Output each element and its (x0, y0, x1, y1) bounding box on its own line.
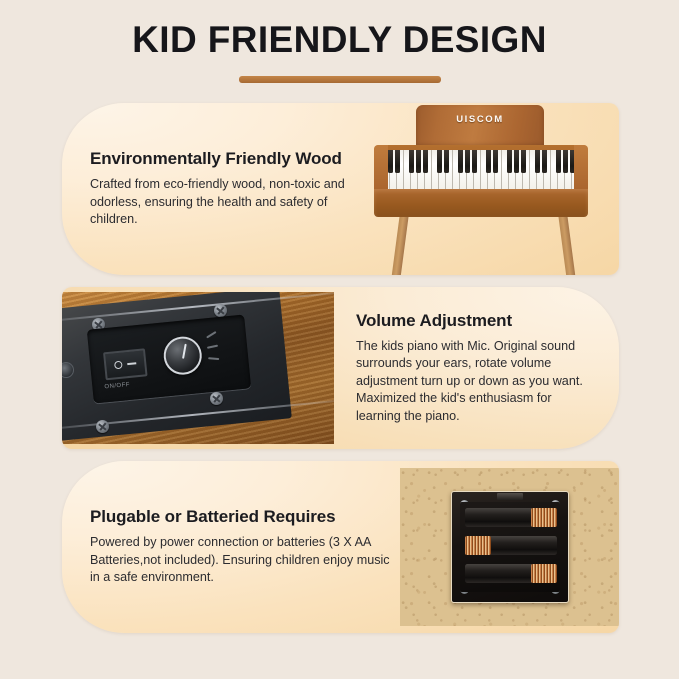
battery-positive-terminal (465, 536, 491, 555)
black-key (472, 150, 477, 173)
piano-music-stand: UISCOM (416, 105, 544, 147)
tray-clip (497, 493, 523, 500)
piano-leg-right (558, 212, 576, 275)
aa-battery (465, 536, 557, 555)
screw-icon (214, 304, 227, 317)
feature-heading: Environmentally Friendly Wood (90, 149, 356, 169)
battery-compartment-image (400, 468, 619, 626)
black-key (458, 150, 463, 173)
black-key (465, 150, 470, 173)
black-key (556, 150, 561, 173)
black-key (486, 150, 491, 173)
switch-off-symbol-icon (114, 361, 123, 370)
header: KID FRIENDLY DESIGN (0, 0, 679, 83)
battery-positive-terminal (531, 508, 557, 527)
screw-icon (96, 420, 109, 433)
battery-positive-terminal (531, 564, 557, 583)
battery-bay (460, 502, 560, 592)
control-panel-image: ON/OFF (62, 292, 334, 444)
feature-body: Powered by power connection or batteries… (90, 534, 394, 586)
piano-apron (374, 189, 588, 217)
black-key (395, 150, 400, 173)
feature-text-pane: Plugable or Batteried Requires Powered b… (62, 461, 400, 633)
feature-card-list: Environmentally Friendly Wood Crafted fr… (62, 103, 619, 633)
black-key (493, 150, 498, 173)
feature-text-pane: Volume Adjustment The kids piano with Mi… (334, 287, 619, 449)
aa-battery (465, 508, 557, 527)
piano-cheek-right (574, 145, 588, 192)
feature-text-pane: Environmentally Friendly Wood Crafted fr… (62, 103, 362, 275)
black-key (437, 150, 442, 173)
power-switch-label: ON/OFF (104, 382, 130, 390)
brand-logo-text: UISCOM (416, 114, 544, 125)
black-key (444, 150, 449, 173)
black-key (535, 150, 540, 173)
black-key (409, 150, 414, 173)
volume-knob[interactable] (162, 335, 204, 377)
feature-body: The kids piano with Mic. Original sound … (356, 338, 599, 425)
feature-heading: Plugable or Batteried Requires (90, 507, 394, 527)
black-key (563, 150, 568, 173)
black-key (514, 150, 519, 173)
control-panel-photo: ON/OFF (62, 287, 334, 449)
feature-heading: Volume Adjustment (356, 311, 599, 331)
title-underline-rule (239, 76, 441, 83)
aa-battery (465, 564, 557, 583)
black-key (388, 150, 393, 173)
feature-card-volume-adjustment: Volume Adjustment The kids piano with Mi… (62, 287, 619, 449)
volume-scale-ticks (206, 330, 230, 372)
piano-leg-left (391, 212, 409, 275)
control-recess: ON/OFF (87, 314, 251, 403)
page-title: KID FRIENDLY DESIGN (0, 18, 679, 62)
tick (208, 357, 219, 360)
power-switch[interactable] (103, 348, 148, 380)
black-key (423, 150, 428, 173)
black-key (507, 150, 512, 173)
black-key (542, 150, 547, 173)
piano-photo: UISCOM (362, 103, 619, 275)
screw-icon (210, 392, 223, 405)
black-keys (383, 150, 579, 173)
piano-illustration: UISCOM (362, 103, 619, 275)
tick (206, 331, 216, 338)
piano-keybed (383, 150, 579, 190)
feature-body: Crafted from eco-friendly wood, non-toxi… (90, 176, 356, 228)
battery-tray (451, 491, 569, 603)
black-key (416, 150, 421, 173)
switch-on-symbol-icon (127, 362, 136, 365)
piano-cheek-left (374, 145, 388, 192)
feature-card-environmentally-friendly-wood: Environmentally Friendly Wood Crafted fr… (62, 103, 619, 275)
black-key (521, 150, 526, 173)
battery-compartment-photo (400, 461, 619, 633)
feature-card-plugable-or-batteried-requires: Plugable or Batteried Requires Powered b… (62, 461, 619, 633)
tick (207, 345, 218, 349)
